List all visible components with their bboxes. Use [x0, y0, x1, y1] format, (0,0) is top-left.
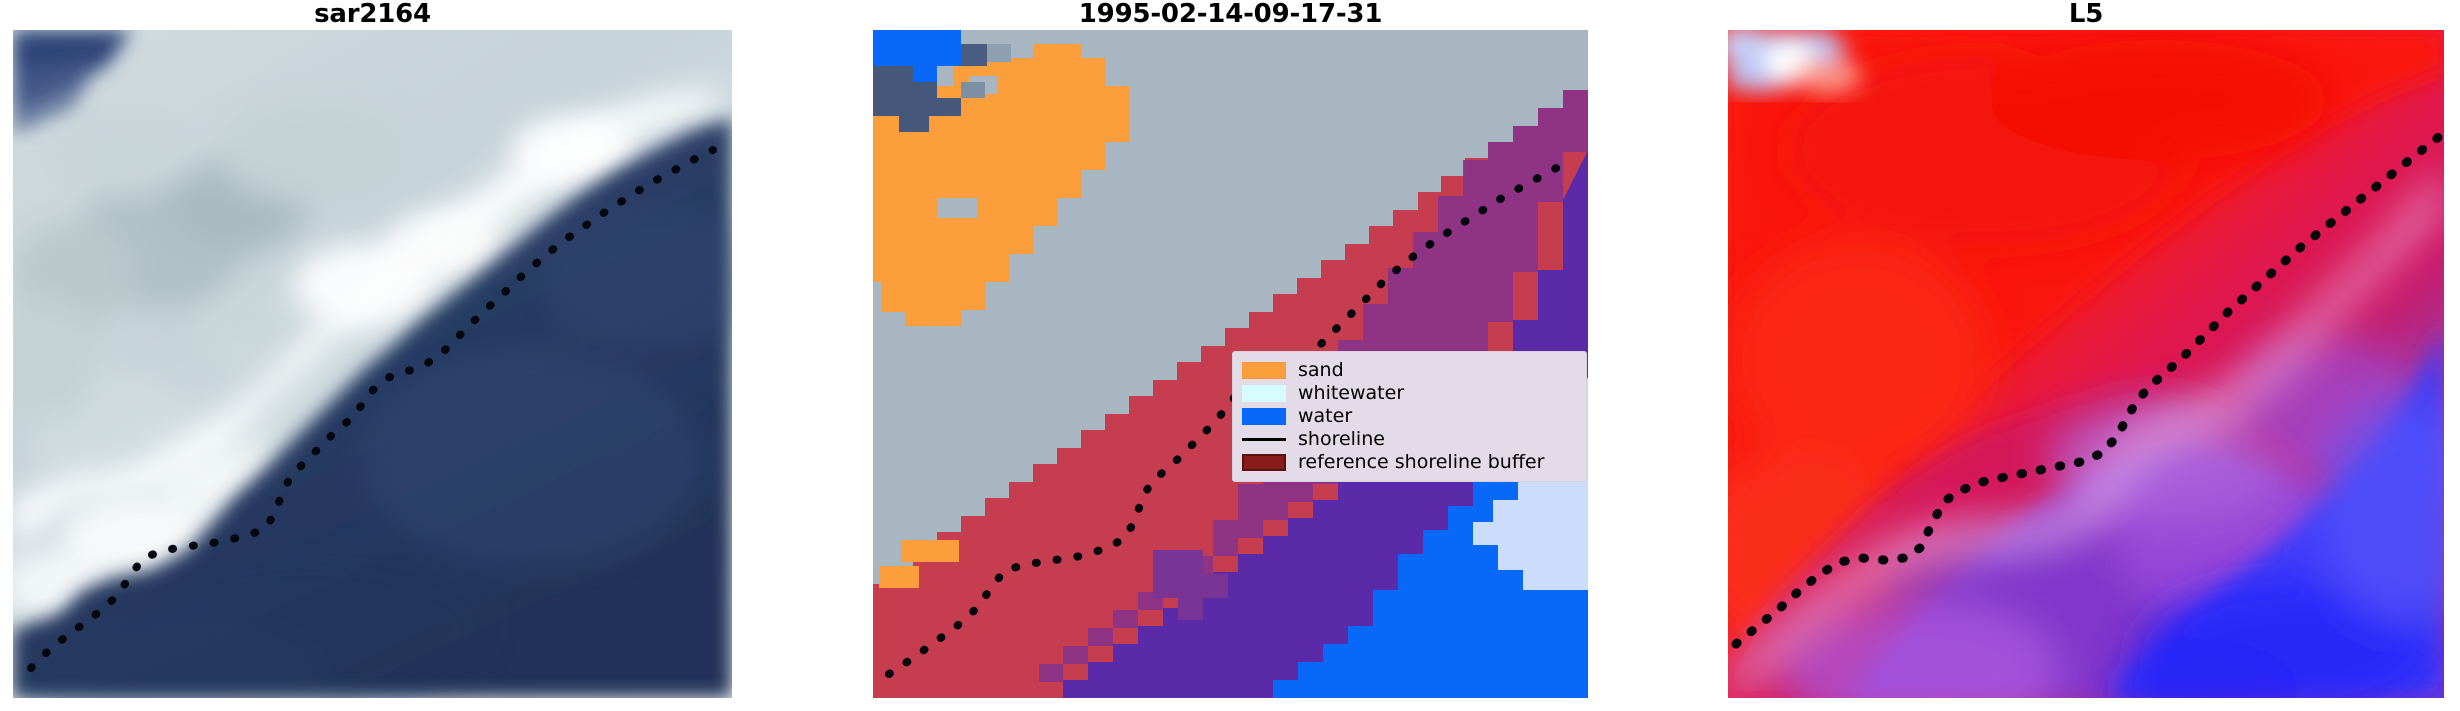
panel-title-index: L5 [1728, 0, 2444, 30]
legend-row-sand: sand [1242, 359, 1576, 382]
class-legend: sand whitewater water shoreline referenc… [1232, 351, 1587, 482]
shoreline-line-sample [1242, 431, 1286, 448]
panel-sar: sar2164 [13, 0, 732, 711]
legend-label-sand: sand [1298, 361, 1344, 380]
axes-index-image [1728, 30, 2444, 698]
legend-label-water: water [1298, 407, 1352, 426]
water-swatch [1242, 408, 1286, 425]
legend-row-water: water [1242, 405, 1576, 428]
legend-row-shoreline: shoreline [1242, 428, 1576, 451]
axes-sar-image [13, 30, 732, 698]
sand-swatch [1242, 362, 1286, 379]
legend-label-whitewater: whitewater [1298, 384, 1404, 403]
whitewater-swatch [1242, 385, 1286, 402]
reference-buffer-swatch [1242, 454, 1286, 471]
panel-title-classification: 1995-02-14-09-17-31 [873, 0, 1588, 30]
panel-title-sar: sar2164 [13, 0, 732, 30]
index-image-svg [1728, 30, 2444, 698]
legend-row-whitewater: whitewater [1242, 382, 1576, 405]
legend-row-reference-buffer: reference shoreline buffer [1242, 451, 1576, 474]
sar-image-svg [13, 30, 732, 698]
panel-classification: 1995-02-14-09-17-31 [873, 0, 1588, 711]
panel-index: L5 [1728, 0, 2444, 711]
legend-label-reference-buffer: reference shoreline buffer [1298, 453, 1544, 472]
figure-canvas: sar2164 [0, 0, 2460, 711]
legend-label-shoreline: shoreline [1298, 430, 1385, 449]
